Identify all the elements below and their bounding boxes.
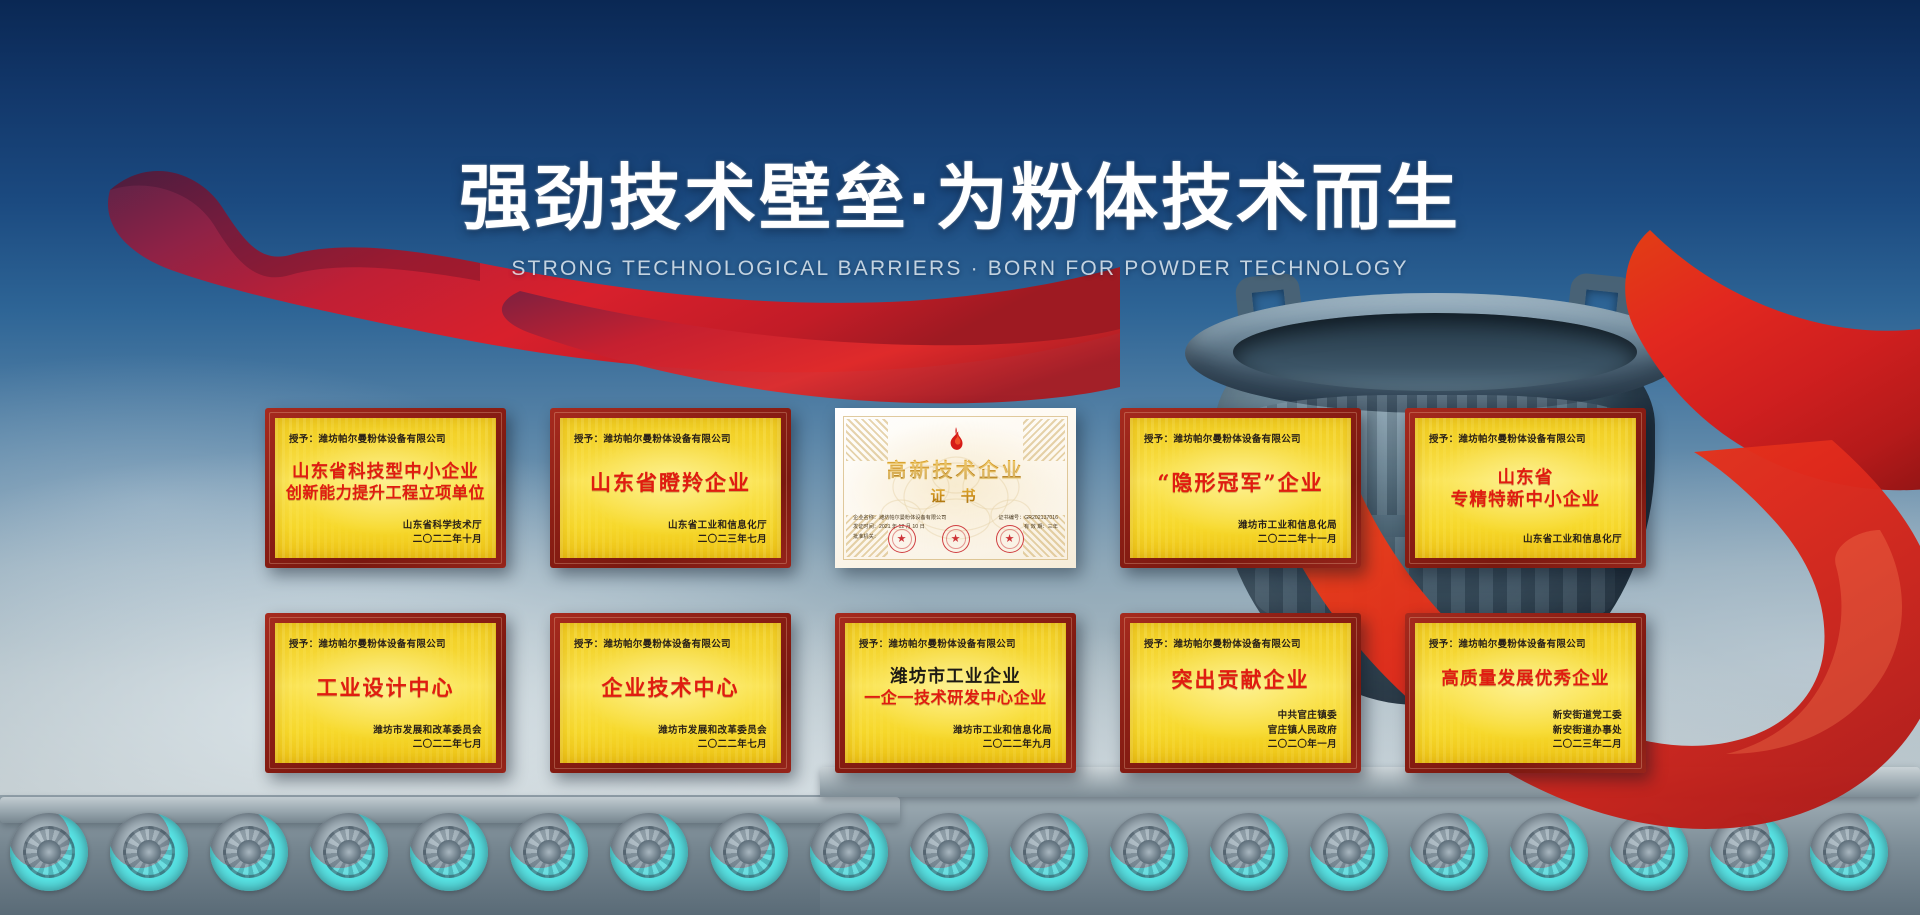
- plaque-issuer-line: 山东省工业和信息化厅: [1429, 533, 1622, 548]
- seal-icon: [996, 525, 1024, 553]
- plaque-awarded-to: 授予：潍坊帕尔曼粉体设备有限公司: [289, 431, 482, 445]
- plaque-face: 授予：潍坊帕尔曼粉体设备有限公司高质量发展优秀企业新安街道党工委新安街道办事处二…: [1415, 623, 1636, 763]
- plaque-title-line: 企业技术中心: [602, 676, 740, 700]
- vessel-rim-inner: [1233, 313, 1637, 391]
- plaque-issuer-line: 二〇二二年九月: [859, 738, 1052, 753]
- honor-plaque[interactable]: 授予：潍坊帕尔曼粉体设备有限公司潍坊市工业企业一企一技术研发中心企业潍坊市工业和…: [835, 613, 1076, 773]
- plaque-title: 山东省科技型中小企业创新能力提升工程立项单位: [289, 447, 482, 518]
- plaque-awarded-to: 授予：潍坊帕尔曼粉体设备有限公司: [859, 636, 1052, 650]
- plaque-awarded-to: 授予：潍坊帕尔曼粉体设备有限公司: [574, 431, 767, 445]
- plaque-issuer-line: 二〇二〇年一月: [1144, 738, 1337, 753]
- medallion-icon: [810, 813, 888, 891]
- plaque-title: 高质量发展优秀企业: [1429, 652, 1622, 708]
- medallion-icon: [110, 813, 188, 891]
- seal-icon: [942, 525, 970, 553]
- plaque-title: 山东省专精特新中小企业: [1429, 447, 1622, 532]
- honor-plaque[interactable]: 授予：潍坊帕尔曼粉体设备有限公司山东省专精特新中小企业山东省工业和信息化厅: [1405, 408, 1646, 568]
- honor-plaque[interactable]: 授予：潍坊帕尔曼粉体设备有限公司山东省瞪羚企业山东省工业和信息化厅二〇二三年七月: [550, 408, 791, 568]
- plaque-face: 授予：潍坊帕尔曼粉体设备有限公司突出贡献企业中共官庄镇委官庄镇人民政府二〇二〇年…: [1130, 623, 1351, 763]
- medallion-icon: [1210, 813, 1288, 891]
- plaque-issuer: 山东省工业和信息化厅: [1429, 533, 1622, 548]
- certificate-title: 高新技术企业: [853, 454, 1058, 483]
- plaque-issuer-line: 二〇二二年七月: [574, 738, 767, 753]
- honors-grid: 授予：潍坊帕尔曼粉体设备有限公司山东省科技型中小企业创新能力提升工程立项单位山东…: [265, 408, 1665, 773]
- page-title: 强劲技术壁垒·为粉体技术而生: [0, 160, 1920, 239]
- plaque-issuer-line: 二〇二三年二月: [1429, 738, 1622, 753]
- plaque-issuer: 中共官庄镇委官庄镇人民政府二〇二〇年一月: [1144, 709, 1337, 753]
- plaque-issuer-line: 中共官庄镇委: [1144, 709, 1337, 724]
- medallion-icon: [1310, 813, 1388, 891]
- medallion-icon: [510, 813, 588, 891]
- medallion-icon: [710, 813, 788, 891]
- flame-icon: [943, 426, 969, 452]
- honor-plaque[interactable]: 授予：潍坊帕尔曼粉体设备有限公司山东省科技型中小企业创新能力提升工程立项单位山东…: [265, 408, 506, 568]
- medallion-icon: [10, 813, 88, 891]
- plaque-awarded-to: 授予：潍坊帕尔曼粉体设备有限公司: [1144, 636, 1337, 650]
- banner-stage: 强劲技术壁垒·为粉体技术而生 STRONG TECHNOLOGICAL BARR…: [0, 0, 1920, 915]
- medallion-icon: [1610, 813, 1688, 891]
- honor-plaque[interactable]: 授予：潍坊帕尔曼粉体设备有限公司突出贡献企业中共官庄镇委官庄镇人民政府二〇二〇年…: [1120, 613, 1361, 773]
- plaque-issuer: 山东省工业和信息化厅二〇二三年七月: [574, 519, 767, 548]
- plaque-title: 企业技术中心: [574, 652, 767, 723]
- plaque-issuer: 潍坊市发展和改革委员会二〇二二年七月: [574, 724, 767, 753]
- certificate-seals: [844, 525, 1067, 553]
- plaque-face: 授予：潍坊帕尔曼粉体设备有限公司潍坊市工业企业一企一技术研发中心企业潍坊市工业和…: [845, 623, 1066, 763]
- medallion-icon: [310, 813, 388, 891]
- plaque-face: 授予：潍坊帕尔曼粉体设备有限公司“隐形冠军”企业潍坊市工业和信息化局二〇二二年十…: [1130, 418, 1351, 558]
- medallion-icon: [1810, 813, 1888, 891]
- plaque-awarded-to: 授予：潍坊帕尔曼粉体设备有限公司: [1144, 431, 1337, 445]
- plaque-face: 授予：潍坊帕尔曼粉体设备有限公司工业设计中心潍坊市发展和改革委员会二〇二二年七月: [275, 623, 496, 763]
- plaque-title-line: 山东省科技型中小企业: [292, 463, 479, 483]
- plaque-issuer-line: 官庄镇人民政府: [1144, 724, 1337, 739]
- medallion-icon: [1010, 813, 1088, 891]
- certificate-subtitle: 证 书: [853, 485, 1058, 506]
- plaque-title-line: “隐形冠军”企业: [1157, 471, 1323, 495]
- plaque-title: “隐形冠军”企业: [1144, 447, 1337, 518]
- plaque-issuer: 潍坊市发展和改革委员会二〇二二年七月: [289, 724, 482, 753]
- honor-plaque[interactable]: 授予：潍坊帕尔曼粉体设备有限公司工业设计中心潍坊市发展和改革委员会二〇二二年七月: [265, 613, 506, 773]
- plaque-title-line: 专精特新中小企业: [1451, 491, 1601, 511]
- plaque-issuer-line: 潍坊市工业和信息化局: [859, 724, 1052, 739]
- seal-icon: [888, 525, 916, 553]
- plaque-issuer-line: 山东省科学技术厅: [289, 519, 482, 534]
- certificate-inner: 高新技术企业证 书企业名称：潍坊帕尔曼粉体设备有限公司证书编号：GR202137…: [843, 416, 1068, 560]
- plaque-awarded-to: 授予：潍坊帕尔曼粉体设备有限公司: [289, 636, 482, 650]
- plaque-face: 授予：潍坊帕尔曼粉体设备有限公司山东省瞪羚企业山东省工业和信息化厅二〇二三年七月: [560, 418, 781, 558]
- honor-plaque[interactable]: 授予：潍坊帕尔曼粉体设备有限公司“隐形冠军”企业潍坊市工业和信息化局二〇二二年十…: [1120, 408, 1361, 568]
- medallion-icon: [910, 813, 988, 891]
- honor-plaque[interactable]: 授予：潍坊帕尔曼粉体设备有限公司高质量发展优秀企业新安街道党工委新安街道办事处二…: [1405, 613, 1646, 773]
- plaque-title-line: 创新能力提升工程立项单位: [286, 484, 485, 502]
- plaque-issuer-line: 新安街道办事处: [1429, 724, 1622, 739]
- certificate-field-row: 企业名称：潍坊帕尔曼粉体设备有限公司证书编号：GR202137016: [853, 514, 1058, 523]
- plaque-title-line: 一企一技术研发中心企业: [864, 689, 1047, 707]
- plaque-title-line: 山东省瞪羚企业: [590, 471, 751, 495]
- plaque-title-line: 山东省: [1497, 469, 1553, 489]
- page-subtitle: STRONG TECHNOLOGICAL BARRIERS · BORN FOR…: [0, 257, 1920, 281]
- plaque-issuer: 新安街道党工委新安街道办事处二〇二三年二月: [1429, 709, 1622, 753]
- plaque-face: 授予：潍坊帕尔曼粉体设备有限公司山东省科技型中小企业创新能力提升工程立项单位山东…: [275, 418, 496, 558]
- high-tech-enterprise-certificate[interactable]: 高新技术企业证 书企业名称：潍坊帕尔曼粉体设备有限公司证书编号：GR202137…: [835, 408, 1076, 568]
- medallion-icon: [1510, 813, 1588, 891]
- plaque-title-line: 高质量发展优秀企业: [1441, 670, 1609, 690]
- medallion-icon: [1410, 813, 1488, 891]
- plaque-issuer-line: 潍坊市发展和改革委员会: [574, 724, 767, 739]
- plaque-title-line: 工业设计中心: [317, 676, 455, 700]
- plaque-title-line: 潍坊市工业企业: [890, 668, 1021, 688]
- plaque-issuer: 山东省科学技术厅二〇二二年十月: [289, 519, 482, 548]
- certificate-field: 企业名称：潍坊帕尔曼粉体设备有限公司: [853, 514, 946, 523]
- plaque-face: 授予：潍坊帕尔曼粉体设备有限公司山东省专精特新中小企业山东省工业和信息化厅: [1415, 418, 1636, 558]
- medallion-icon: [410, 813, 488, 891]
- plaque-title-line: 突出贡献企业: [1172, 668, 1310, 692]
- plaque-issuer-line: 二〇二二年十一月: [1144, 533, 1337, 548]
- honor-plaque[interactable]: 授予：潍坊帕尔曼粉体设备有限公司企业技术中心潍坊市发展和改革委员会二〇二二年七月: [550, 613, 791, 773]
- plaque-issuer-line: 二〇二二年七月: [289, 738, 482, 753]
- plaque-issuer: 潍坊市工业和信息化局二〇二二年十一月: [1144, 519, 1337, 548]
- plaque-issuer-line: 二〇二三年七月: [574, 533, 767, 548]
- plaque-title: 工业设计中心: [289, 652, 482, 723]
- plaque-awarded-to: 授予：潍坊帕尔曼粉体设备有限公司: [574, 636, 767, 650]
- plaque-title: 突出贡献企业: [1144, 652, 1337, 708]
- plaque-title: 潍坊市工业企业一企一技术研发中心企业: [859, 652, 1052, 723]
- plaque-issuer-line: 山东省工业和信息化厅: [574, 519, 767, 534]
- plaque-issuer-line: 潍坊市发展和改革委员会: [289, 724, 482, 739]
- honors-row: 授予：潍坊帕尔曼粉体设备有限公司山东省科技型中小企业创新能力提升工程立项单位山东…: [265, 408, 1665, 568]
- plaque-awarded-to: 授予：潍坊帕尔曼粉体设备有限公司: [1429, 636, 1622, 650]
- plaque-title: 山东省瞪羚企业: [574, 447, 767, 518]
- medallion-icon: [1110, 813, 1188, 891]
- plaque-awarded-to: 授予：潍坊帕尔曼粉体设备有限公司: [1429, 431, 1622, 445]
- medallion-icon: [1710, 813, 1788, 891]
- plaque-issuer-line: 潍坊市工业和信息化局: [1144, 519, 1337, 534]
- plaque-issuer: 潍坊市工业和信息化局二〇二二年九月: [859, 724, 1052, 753]
- plaque-face: 授予：潍坊帕尔曼粉体设备有限公司企业技术中心潍坊市发展和改革委员会二〇二二年七月: [560, 623, 781, 763]
- medallion-icon: [610, 813, 688, 891]
- medallion-icon: [210, 813, 288, 891]
- balustrade-medallions: [0, 807, 1920, 897]
- certificate-field: 证书编号：GR202137016: [998, 514, 1058, 523]
- plaque-issuer-line: 新安街道党工委: [1429, 709, 1622, 724]
- banner-title-block: 强劲技术壁垒·为粉体技术而生 STRONG TECHNOLOGICAL BARR…: [0, 160, 1920, 281]
- honors-row: 授予：潍坊帕尔曼粉体设备有限公司工业设计中心潍坊市发展和改革委员会二〇二二年七月…: [265, 613, 1665, 773]
- plaque-issuer-line: 二〇二二年十月: [289, 533, 482, 548]
